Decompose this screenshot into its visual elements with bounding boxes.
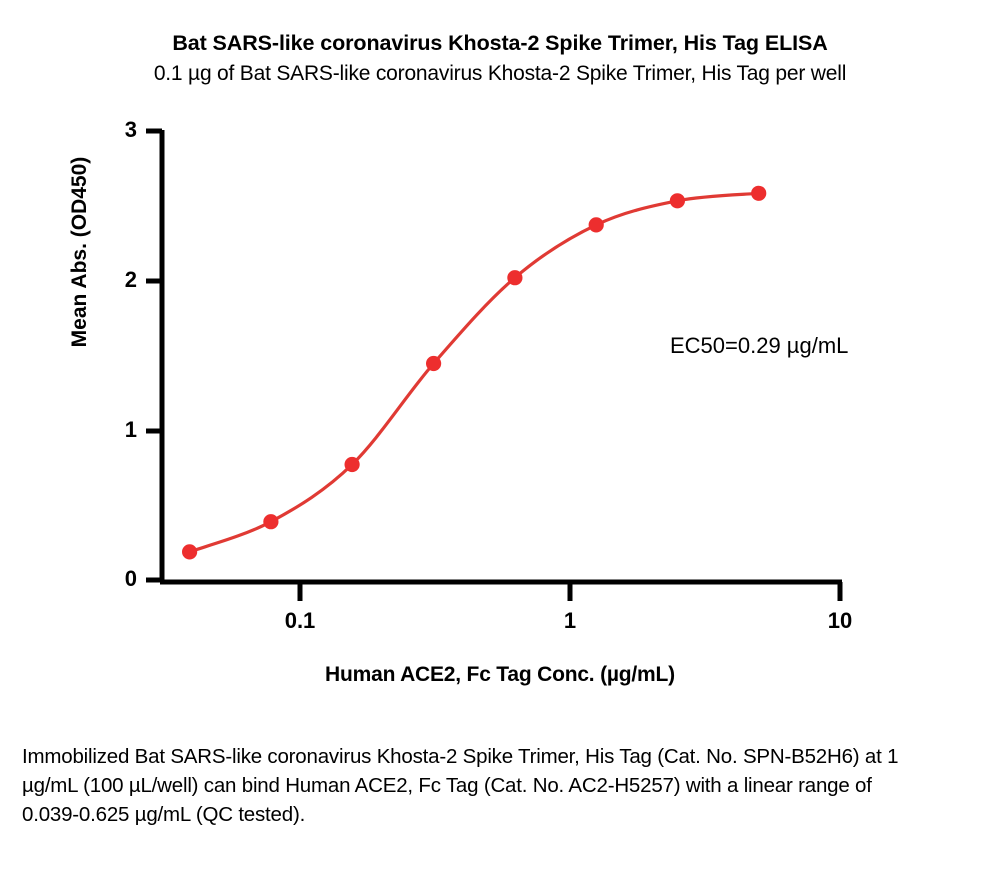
data-point-1 (263, 514, 278, 529)
y-axis-label: Mean Abs. (OD450) (68, 112, 92, 392)
y-tick-label-1: 1 (97, 417, 137, 443)
data-point-2 (345, 457, 360, 472)
data-point-3 (426, 356, 441, 371)
plot-area: Mean Abs. (OD450) Human ACE2, Fc Tag Con… (0, 0, 1000, 720)
x-axis-label: Human ACE2, Fc Tag Conc. (µg/mL) (0, 663, 1000, 687)
data-point-7 (751, 186, 766, 201)
data-point-4 (507, 270, 522, 285)
data-point-0 (182, 544, 197, 559)
series-curve (190, 193, 759, 552)
series-markers (182, 186, 766, 560)
data-point-6 (670, 193, 685, 208)
x-tick-label-10: 10 (800, 608, 880, 634)
x-tick-label-1: 1 (530, 608, 610, 634)
y-tick-label-2: 2 (97, 267, 137, 293)
y-tick-label-3: 3 (97, 117, 137, 143)
ec50-annotation: EC50=0.29 µg/mL (670, 333, 848, 359)
x-tick-label-0.1: 0.1 (260, 608, 340, 634)
data-point-5 (589, 217, 604, 232)
y-tick-label-0: 0 (97, 566, 137, 592)
figure-caption: Immobilized Bat SARS-like coronavirus Kh… (22, 742, 902, 829)
figure-panel: Bat SARS-like coronavirus Khosta-2 Spike… (0, 0, 1000, 875)
x-tick-marks (300, 582, 840, 601)
